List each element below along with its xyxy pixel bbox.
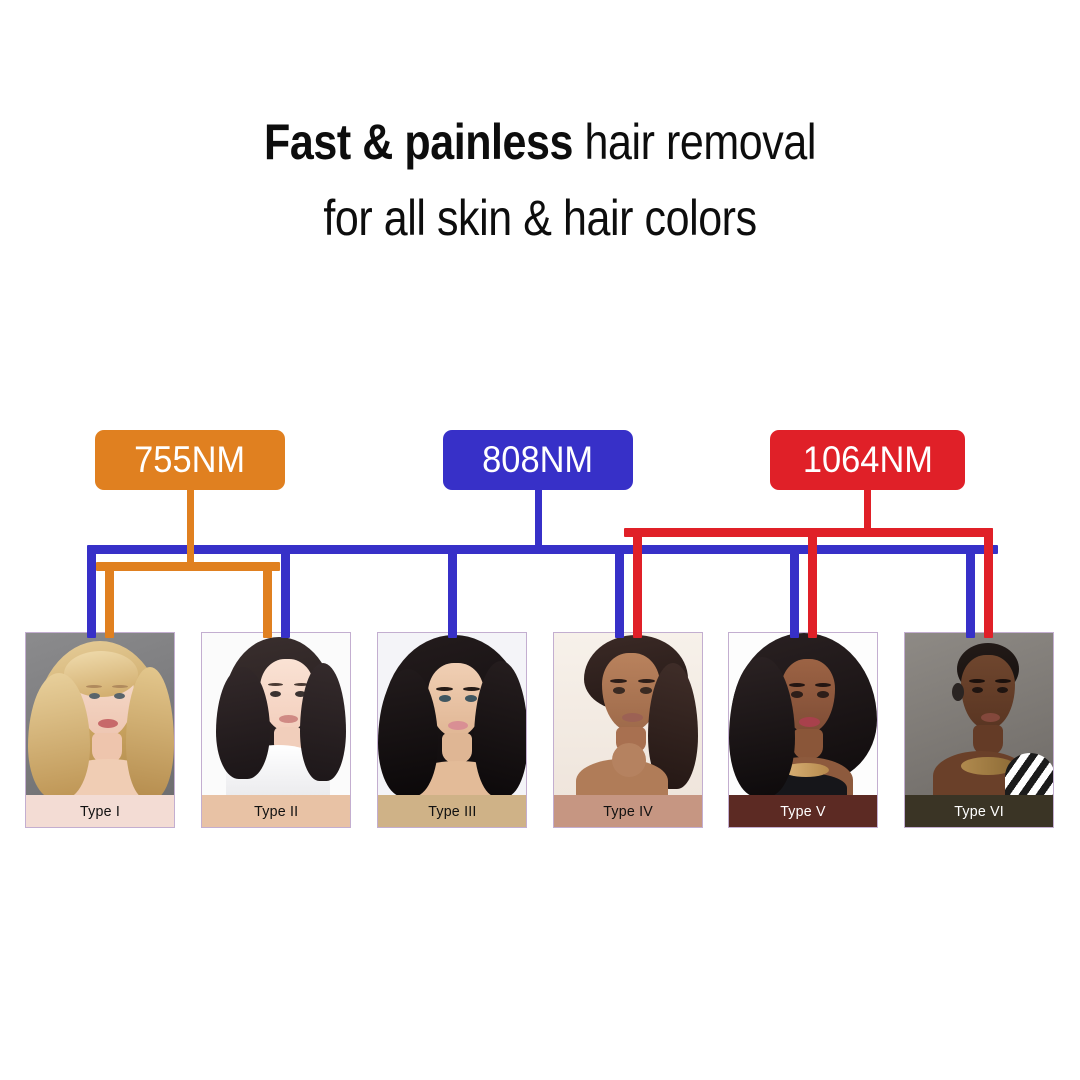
skin-type-strip-1: Type I (26, 795, 174, 827)
skin-type-strip-3: Type III (378, 795, 526, 827)
skin-type-photo-6 (905, 633, 1053, 797)
skin-type-photo-4 (554, 633, 702, 797)
skin-type-strip-2: Type II (202, 795, 350, 827)
connector-leg-808nm-type-1 (87, 545, 96, 638)
skin-type-card-5[interactable]: Type V (728, 632, 878, 828)
skin-type-strip-6: Type VI (905, 795, 1053, 827)
headline-line-2: for all skin & hair colors (76, 180, 1005, 256)
connector-leg-755nm-type-2 (263, 562, 272, 638)
wavelength-badge-808nm-label: 808NM (483, 439, 594, 481)
badge-stem-755nm (187, 490, 194, 566)
skin-type-card-2[interactable]: Type II (201, 632, 351, 828)
connector-bar-808nm (90, 545, 998, 554)
skin-type-label-1: Type I (80, 803, 120, 820)
skin-type-card-4[interactable]: Type IV (553, 632, 703, 828)
skin-type-photo-5 (729, 633, 877, 797)
poster-canvas: Fast & painless hair removal for all ski… (0, 0, 1080, 1080)
connector-leg-1064nm-type-6 (984, 528, 993, 638)
skin-type-photo-1 (26, 633, 174, 797)
skin-type-card-6[interactable]: Type VI (904, 632, 1054, 828)
skin-type-label-2: Type II (254, 803, 298, 820)
skin-type-photo-3 (378, 633, 526, 797)
connector-leg-1064nm-type-4 (633, 528, 642, 638)
wavelength-badge-1064nm[interactable]: 1064NM (770, 430, 965, 490)
skin-type-card-3[interactable]: Type III (377, 632, 527, 828)
connector-leg-808nm-type-2 (281, 545, 290, 638)
skin-type-strip-5: Type V (729, 795, 877, 827)
connector-leg-808nm-type-5 (790, 545, 799, 638)
wavelength-badge-755nm[interactable]: 755NM (95, 430, 285, 490)
skin-type-label-6: Type VI (954, 803, 1004, 820)
skin-type-card-1[interactable]: Type I (25, 632, 175, 828)
headline-line-1: Fast & painless hair removal (76, 104, 1005, 180)
headline-line-1-rest: hair removal (573, 114, 816, 170)
skin-type-strip-4: Type IV (554, 795, 702, 827)
badge-stem-808nm (535, 490, 542, 549)
connector-leg-808nm-type-6 (966, 545, 975, 638)
skin-type-label-3: Type III (428, 803, 476, 820)
connector-leg-755nm-type-1 (105, 562, 114, 638)
page-title: Fast & painless hair removal for all ski… (76, 104, 1005, 256)
skin-type-label-5: Type V (780, 803, 826, 820)
wavelength-badge-755nm-label: 755NM (135, 439, 246, 481)
skin-type-label-4: Type IV (603, 803, 653, 820)
connector-leg-808nm-type-3 (448, 545, 457, 638)
wavelength-badge-1064nm-label: 1064NM (802, 439, 932, 481)
connector-leg-1064nm-type-5 (808, 528, 817, 638)
badge-stem-1064nm (864, 490, 871, 532)
wavelength-badge-808nm[interactable]: 808NM (443, 430, 633, 490)
skin-type-photo-2 (202, 633, 350, 797)
connector-leg-808nm-type-4 (615, 545, 624, 638)
headline-emphasis: Fast & painless (264, 114, 573, 170)
